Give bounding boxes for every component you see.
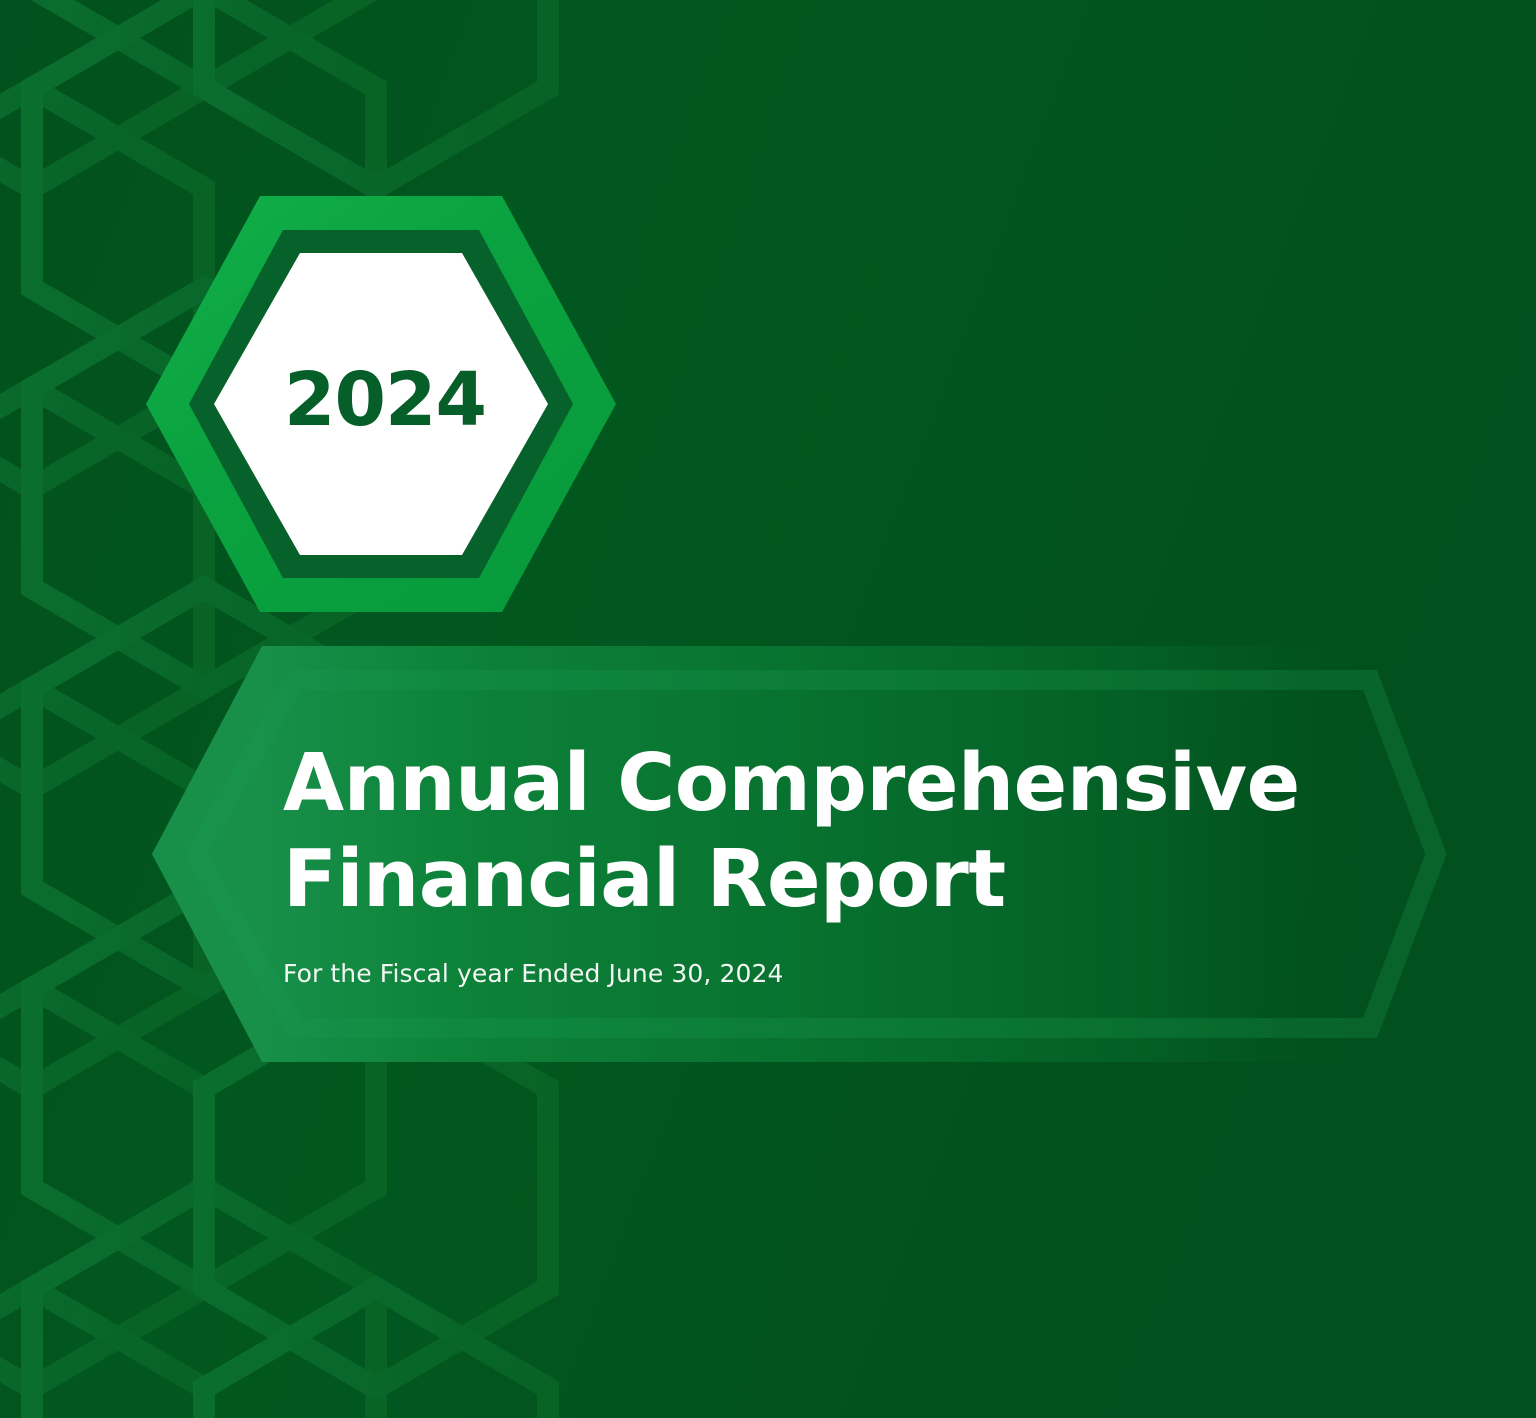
background-graphics (0, 0, 1536, 1418)
badge-year-label: 2024 (269, 355, 501, 445)
title-block: Annual Comprehensive Financial Report (283, 735, 1403, 927)
page-subtitle: For the Fiscal year Ended June 30, 2024 (283, 957, 784, 991)
page-title: Annual Comprehensive Financial Report (283, 735, 1403, 927)
report-cover-page: 2024 Annual Comprehensive Financial Repo… (0, 0, 1536, 1418)
